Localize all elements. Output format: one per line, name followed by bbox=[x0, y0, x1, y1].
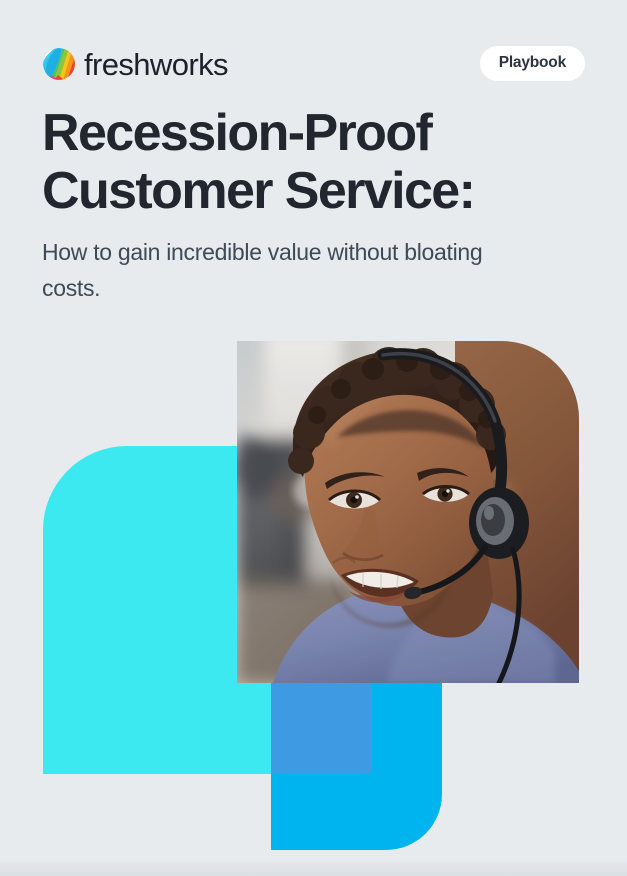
blue-overlap-square-shape bbox=[271, 683, 372, 774]
page-title: Recession-Proof Customer Service: bbox=[42, 104, 542, 220]
cover-header: freshworks Playbook bbox=[42, 44, 585, 84]
playbook-badge: Playbook bbox=[480, 46, 585, 81]
hero-photo bbox=[237, 341, 579, 683]
page-bottom-edge bbox=[0, 862, 627, 876]
page-subtitle: How to gain incredible value without blo… bbox=[42, 234, 512, 306]
brand-lockup: freshworks bbox=[42, 44, 228, 84]
brand-name: freshworks bbox=[84, 49, 228, 80]
freshworks-leaf-logo-icon bbox=[42, 47, 76, 81]
cover-page: freshworks Playbook Recession-Proof Cust… bbox=[0, 0, 627, 876]
